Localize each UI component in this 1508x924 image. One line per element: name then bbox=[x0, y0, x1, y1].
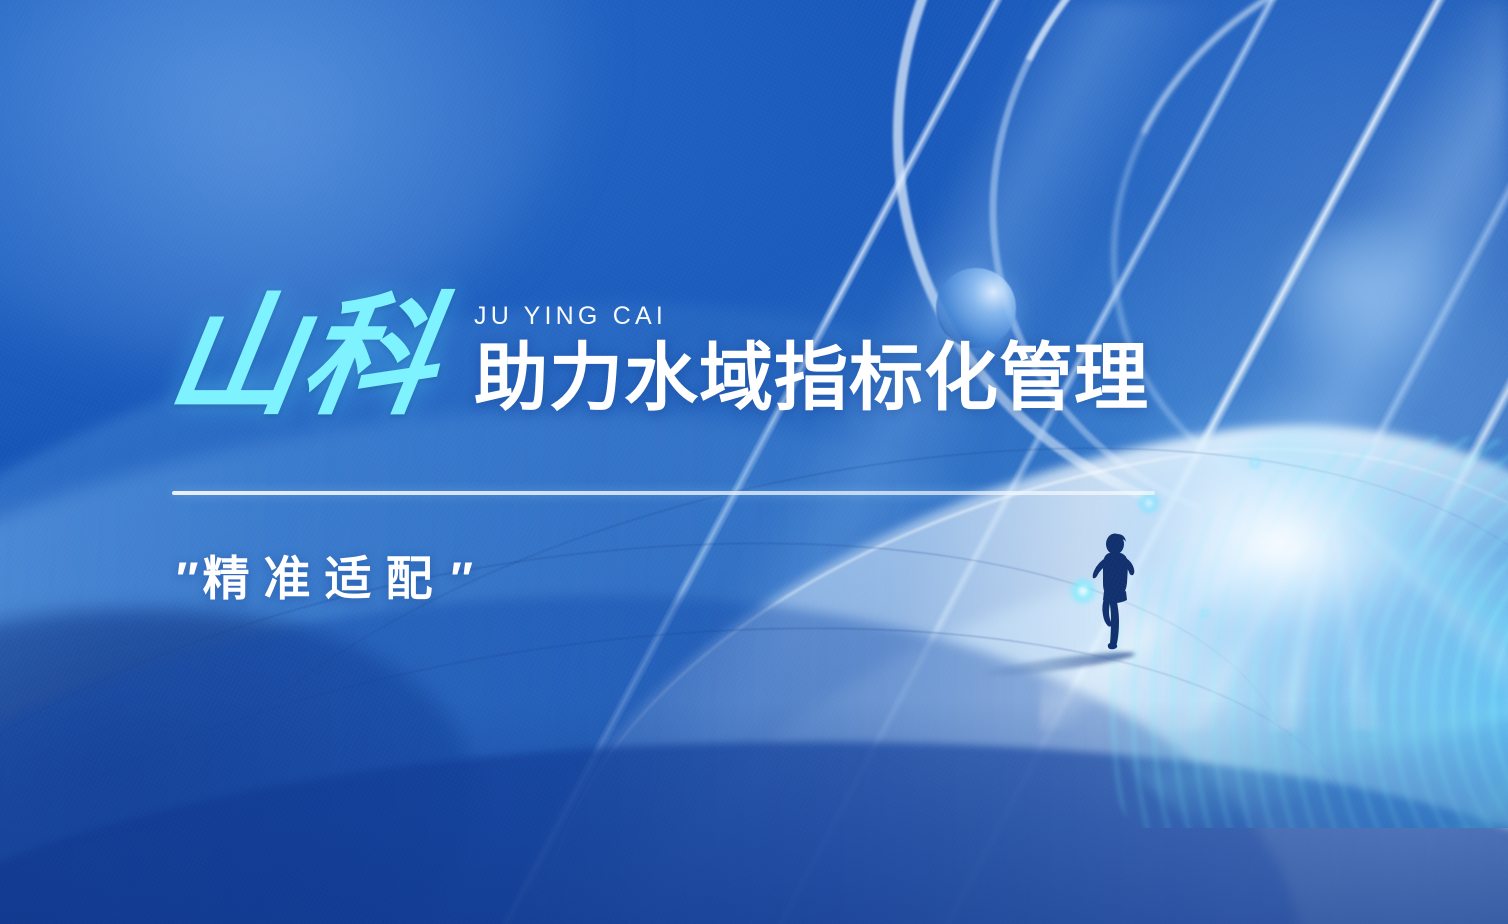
divider-line bbox=[172, 491, 1155, 495]
banner-content: 山科 JU YING CAI 助力水域指标化管理 ″精准适配″ bbox=[0, 0, 1508, 924]
slogan-quote-close: ″ bbox=[447, 552, 478, 605]
headline-right-column: JU YING CAI 助力水域指标化管理 bbox=[474, 296, 1149, 417]
brand-pinyin: JU YING CAI bbox=[474, 302, 1149, 331]
slogan-quote-open: ″ bbox=[172, 552, 203, 605]
slogan-text: 精准适配 bbox=[203, 552, 447, 605]
slogan: ″精准适配″ bbox=[172, 540, 477, 609]
brand-name: 山科 bbox=[160, 296, 447, 417]
tagline: 助力水域指标化管理 bbox=[474, 340, 1149, 417]
banner: 山科 JU YING CAI 助力水域指标化管理 ″精准适配″ bbox=[0, 0, 1508, 924]
headline-row: 山科 JU YING CAI 助力水域指标化管理 bbox=[170, 296, 1149, 417]
